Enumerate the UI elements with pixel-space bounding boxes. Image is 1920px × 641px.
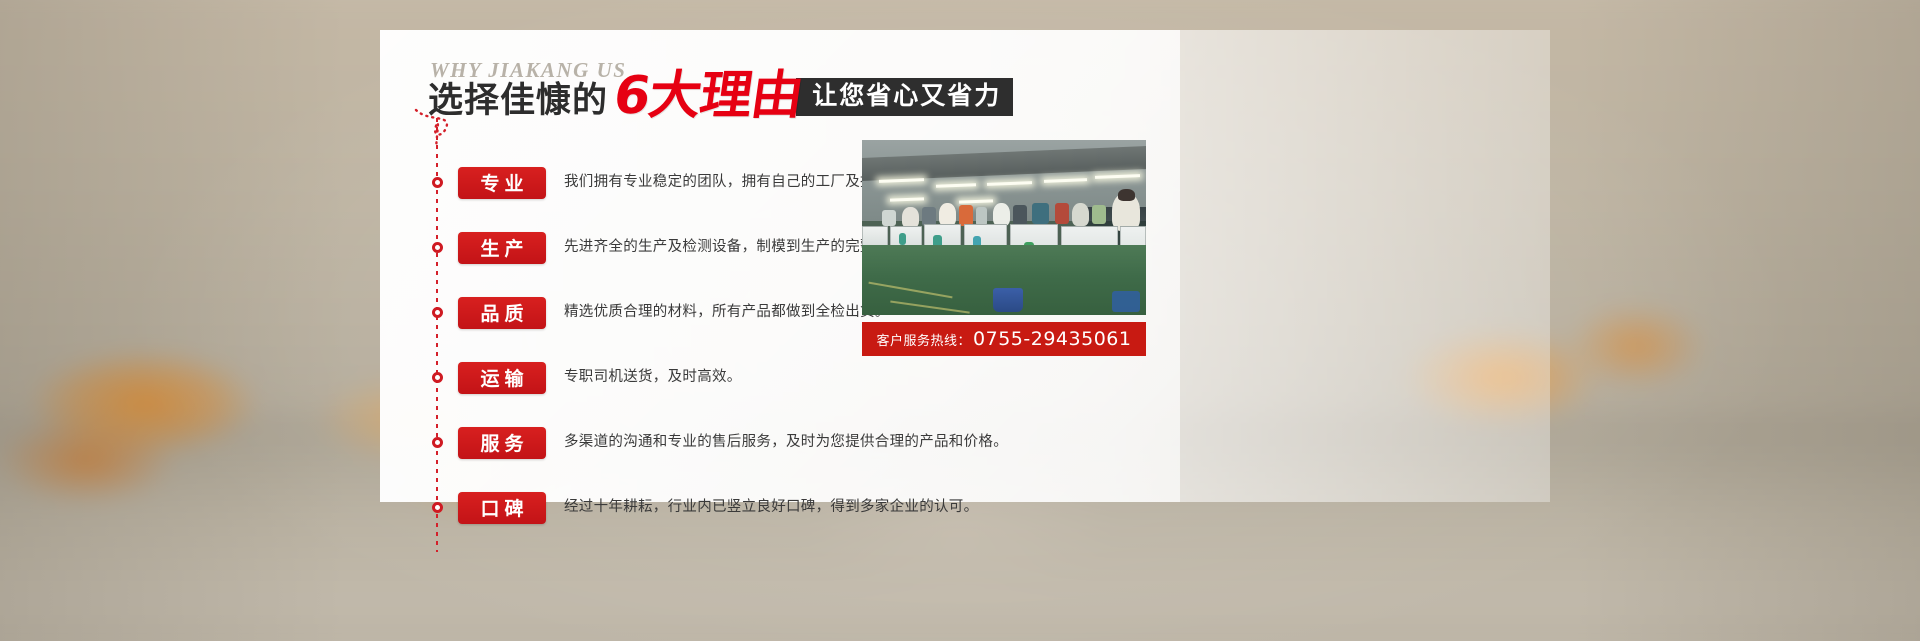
reason-tag: 品质: [458, 297, 546, 329]
reason-tag: 运输: [458, 362, 546, 394]
bullet-node-icon: [432, 177, 443, 188]
bullet-node-icon: [432, 372, 443, 383]
reason-description: 多渠道的沟通和专业的售后服务，及时为您提供合理的产品和价格。: [564, 432, 1008, 452]
heading-tagline-badge: 让您省心又省力: [796, 78, 1013, 116]
reason-tag: 生产: [458, 232, 546, 264]
bullet-node-icon: [432, 502, 443, 513]
bullet-node-icon: [432, 242, 443, 253]
hotline-bar[interactable]: 客户服务热线： 0755-29435061: [862, 322, 1146, 356]
reason-tag: 服务: [458, 427, 546, 459]
photo-block: [862, 140, 1146, 315]
list-item[interactable]: 口碑 经过十年耕耘，行业内已竖立良好口碑，得到多家企业的认可。: [430, 475, 1150, 540]
reason-description: 专职司机送货，及时高效。: [564, 367, 742, 387]
heading-main-row: 选择佳慷的 6大理由 让您省心又省力: [428, 74, 1013, 120]
factory-production-line-photo: [862, 140, 1146, 315]
bullet-node-icon: [432, 437, 443, 448]
reason-description: 经过十年耕耘，行业内已竖立良好口碑，得到多家企业的认可。: [564, 497, 978, 517]
heading-red-highlight: 6大理由: [611, 74, 806, 120]
hotline-label: 客户服务热线：: [877, 330, 972, 349]
hotline-number: 0755-29435061: [973, 328, 1131, 350]
reason-description: 精选优质合理的材料，所有产品都做到全检出货。: [564, 302, 890, 322]
bullet-node-icon: [432, 307, 443, 318]
reason-tag: 专业: [458, 167, 546, 199]
reason-description: 我们拥有专业稳定的团队，拥有自己的工厂及技术。: [564, 172, 904, 192]
reason-tag: 口碑: [458, 492, 546, 524]
dotted-curve-decoration: [412, 108, 472, 148]
list-item[interactable]: 服务 多渠道的沟通和专业的售后服务，及时为您提供合理的产品和价格。: [430, 410, 1150, 475]
